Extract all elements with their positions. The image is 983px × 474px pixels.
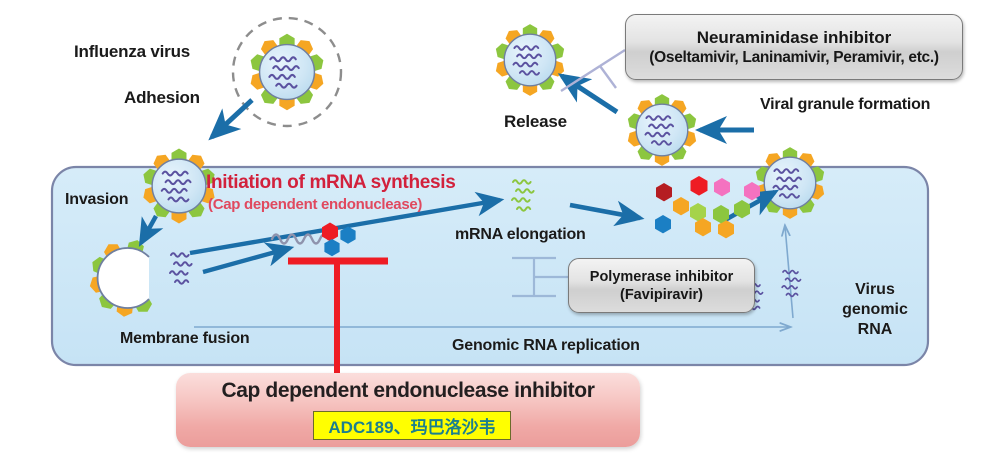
label-virus-genomic-rna: Virus genomic RNA [835, 280, 915, 340]
label-mrna-elongation: mRNA elongation [455, 226, 586, 244]
cap-dependent-endonuclease-inhibitor-box: Cap dependent endonuclease inhibitor ADC… [176, 373, 640, 447]
label-virus-genomic-rna-line3: RNA [835, 320, 915, 340]
label-influenza-virus: Influenza virus [74, 42, 190, 62]
virion-released [494, 24, 567, 96]
label-virus-genomic-rna-line2: genomic [835, 300, 915, 320]
virion-budding-outer [626, 94, 699, 166]
cap-inhibitor-drug-text: ADC189、玛巴洛沙韦 [328, 413, 495, 438]
label-adhesion: Adhesion [124, 88, 200, 108]
label-membrane-fusion: Membrane fusion [120, 330, 249, 348]
label-virus-genomic-rna-line1: Virus [835, 280, 915, 300]
neuraminidase-inhibitor-connector [561, 50, 625, 91]
neuraminidase-inhibitor-box: Neuraminidase inhibitor (Oseltamivir, La… [625, 14, 963, 80]
cap-inhibitor-drug-highlight: ADC189、玛巴洛沙韦 [313, 411, 511, 440]
label-genomic-rna-replication: Genomic RNA replication [452, 337, 640, 355]
label-invasion: Invasion [65, 191, 128, 209]
neuraminidase-inhibitor-drugs: (Oseltamivir, Laninamivir, Peramivir, et… [649, 48, 939, 67]
arrow-granule-to-release [562, 76, 617, 112]
virion-free-adhesion [248, 34, 325, 110]
arrow-adhesion-to-invasion [212, 100, 252, 137]
label-cap-dependent-endonuclease: (Cap dependent endonuclease) [208, 196, 422, 213]
cap-inhibitor-title: Cap dependent endonuclease inhibitor [176, 379, 640, 403]
label-initiation-mrna-synthesis: Initiation of mRNA synthesis [206, 172, 456, 194]
polymerase-inhibitor-title: Polymerase inhibitor [590, 268, 733, 286]
polymerase-inhibitor-drug: (Favipiravir) [620, 286, 703, 304]
neuraminidase-inhibitor-title: Neuraminidase inhibitor [697, 28, 892, 48]
label-viral-granule-formation: Viral granule formation [760, 96, 930, 114]
influenza-replication-diagram: Influenza virus Adhesion Invasion Membra… [0, 0, 983, 474]
label-release: Release [504, 112, 567, 132]
polymerase-inhibitor-box: Polymerase inhibitor (Favipiravir) [568, 258, 755, 313]
